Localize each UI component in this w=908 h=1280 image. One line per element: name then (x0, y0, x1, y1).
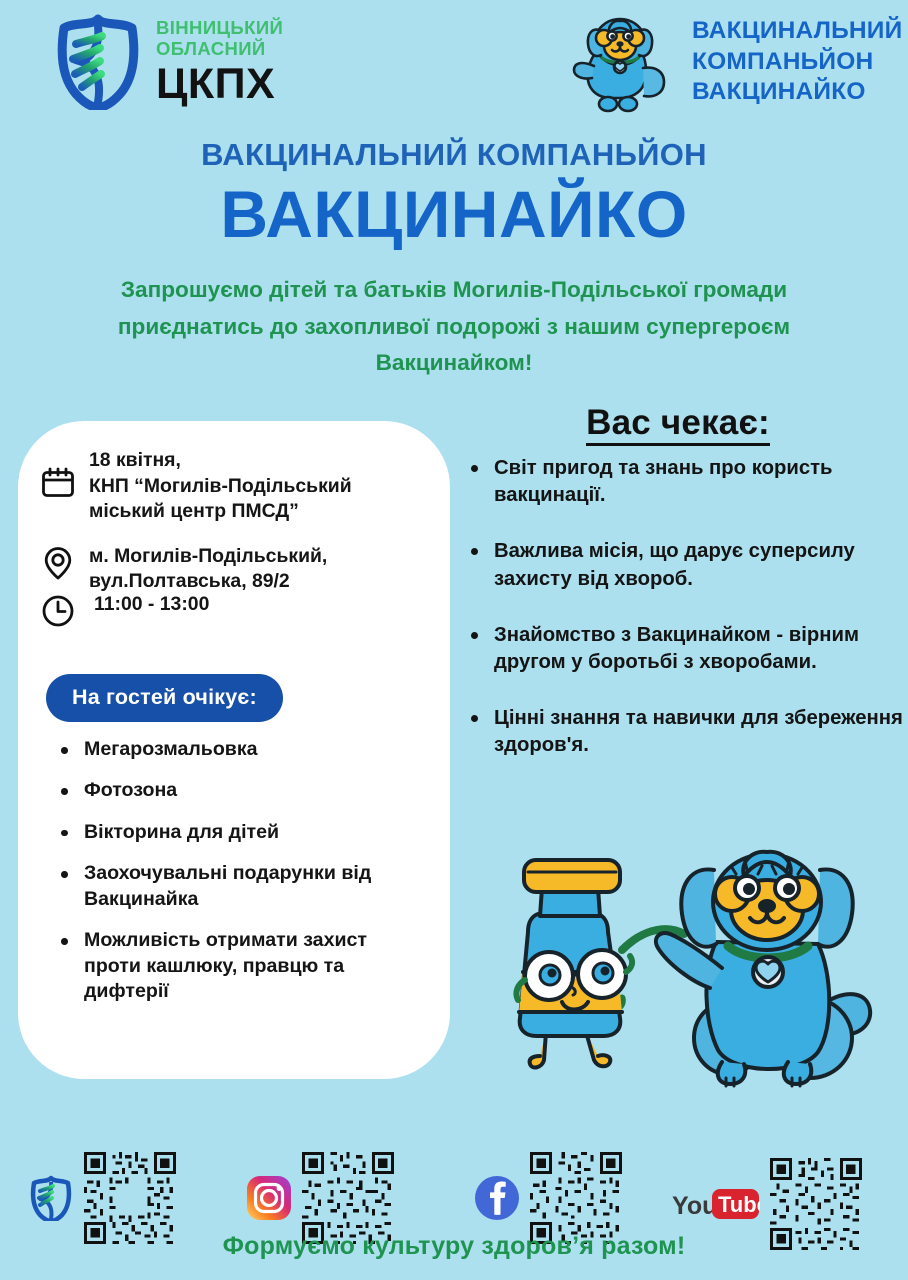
qr-code-website[interactable] (84, 1152, 176, 1244)
ckpx-line-1: ВІННИЦЬКИЙ (156, 17, 283, 38)
ckpx-line-2: ОБЛАСНИЙ (156, 38, 266, 59)
right-column-heading-text: Вас чекає: (586, 403, 770, 446)
event-details-card: 18 квітня, КНП “Могилів-Подільський місь… (18, 421, 450, 1079)
vaccinayko-line-2: КОМПАНЬЙОН (692, 48, 873, 75)
svg-text:You: You (672, 1192, 717, 1220)
event-date-line-1: 18 квітня, (89, 449, 181, 471)
page-title: ВАКЦИНАЙКО (0, 180, 908, 249)
qr-code-instagram[interactable] (302, 1152, 394, 1244)
right-column-heading: Вас чекає: (458, 403, 898, 443)
event-date-line-3: міський центр ПМСД” (89, 500, 299, 522)
list-item: Знайомство з Вакцинайком - вірним другом… (458, 622, 906, 676)
event-place-line-1: м. Могилів-Подільський, (89, 545, 327, 567)
subtitle-block: Запрошуємо дітей та батьків Могилів-Поді… (46, 272, 862, 382)
dog-mascot-logo (568, 6, 678, 118)
event-date-row: 18 квітня, КНП “Могилів-Подільський місь… (40, 447, 432, 525)
event-place-line-2: вул.Полтавська, 89/2 (89, 570, 290, 592)
list-item: Світ пригод та знань про користь вакцина… (458, 455, 906, 509)
list-item: Цінні знання та навички для збереження з… (458, 705, 906, 759)
event-meta-rows: 18 квітня, КНП “Могилів-Подільський місь… (40, 447, 432, 629)
shield-heart-logo (52, 14, 144, 110)
subtitle-line-3: Вакцинайком! (46, 345, 862, 382)
poster-root: ВІННИЦЬКИЙ ОБЛАСНИЙ ЦКПХ (0, 0, 908, 1280)
guests-expect-pill: На гостей очікує: (46, 674, 283, 722)
list-item: Важлива місія, що дарує суперсилу захист… (458, 538, 906, 592)
youtube-icon[interactable]: You Tube (672, 1184, 760, 1224)
event-date-line-2: КНП “Могилів-Подільський (89, 475, 352, 497)
list-item: Фотозона (48, 778, 428, 803)
subtitle-line-1: Запрошуємо дітей та батьків Могилів-Поді… (46, 272, 862, 309)
facebook-icon[interactable] (474, 1175, 520, 1221)
footer-entry-website[interactable] (28, 1152, 176, 1244)
footer-slogan: Формуємо культуру здоров’я разом! (0, 1232, 908, 1261)
card-activities-list: Мегарозмальовка Фотозона Вікторина для д… (48, 737, 428, 1021)
svg-text:Tube: Tube (718, 1192, 760, 1217)
vaccinayko-line-1: ВАКЦИНАЛЬНИЙ (692, 17, 902, 44)
right-benefits-list: Світ пригод та знань про користь вакцина… (458, 455, 906, 789)
instagram-icon[interactable] (246, 1175, 292, 1221)
event-time-row: 11:00 - 13:00 (40, 591, 432, 629)
list-item: Вікторина для дітей (48, 820, 428, 845)
ckpx-brand: ВІННИЦЬКИЙ ОБЛАСНИЙ ЦКПХ (52, 14, 283, 110)
event-time-value: 11:00 - 13:00 (89, 591, 209, 618)
clock-icon (40, 593, 76, 629)
footer-entry-instagram[interactable] (246, 1152, 394, 1244)
event-place-row: м. Могилів-Подільський, вул.Полтавська, … (40, 543, 432, 595)
poster-header: ВІННИЦЬКИЙ ОБЛАСНИЙ ЦКПХ (0, 0, 908, 125)
shield-heart-logo-small (28, 1175, 74, 1221)
calendar-icon (40, 465, 76, 501)
list-item: Мегарозмальовка (48, 737, 428, 762)
qr-code-facebook[interactable] (530, 1152, 622, 1244)
title-kicker: ВАКЦИНАЛЬНИЙ КОМПАНЬЙОН (0, 137, 908, 173)
subtitle-line-2: приєднатись до захопливої подорожі з наш… (46, 309, 862, 346)
ckpx-acronym: ЦКПХ (156, 63, 283, 106)
vaccinayko-brand: ВАКЦИНАЛЬНИЙ КОМПАНЬЙОН ВАКЦИНАЙКО (568, 6, 902, 118)
vaccine-bottle-and-dog-illustration (470, 822, 900, 1107)
footer-entry-facebook[interactable] (474, 1152, 622, 1244)
location-pin-icon (40, 545, 76, 581)
list-item: Можливість отримати захист проти кашлюку… (48, 928, 428, 1004)
list-item: Заохочувальні подарунки від Вакцинайка (48, 861, 428, 912)
vaccinayko-line-3: ВАКЦИНАЙКО (692, 78, 866, 105)
